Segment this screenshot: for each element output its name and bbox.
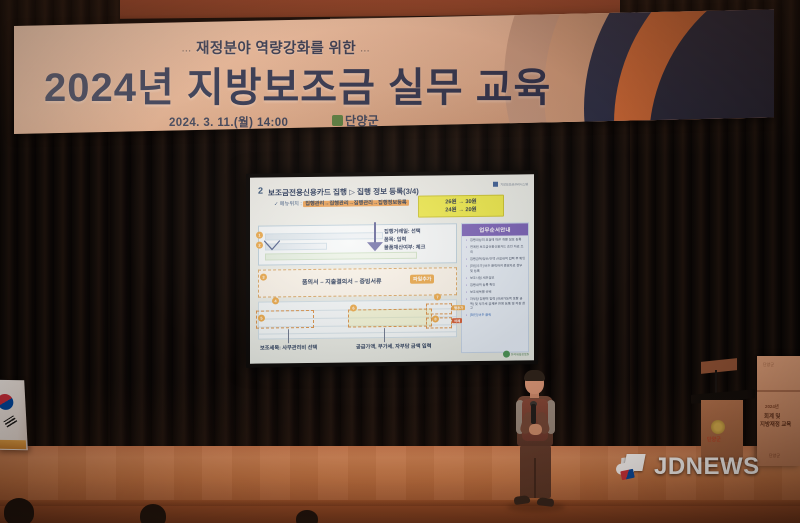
- callout-line-3: 물품재산여부: 체크: [384, 244, 425, 253]
- slide-step-number: 2: [258, 186, 263, 196]
- slide-marker: 6: [350, 304, 357, 311]
- slide-leader-line: [288, 329, 289, 343]
- slide-sidebar-item: 보조사업 세부정보: [466, 275, 526, 281]
- standee-top-text: 단양군: [763, 362, 774, 368]
- slide-footer-label-right: 공급가액, 부가세, 자부담 금액 입력: [356, 343, 431, 351]
- podium-stand: [715, 370, 717, 394]
- hand-holding-newspaper-icon: [616, 454, 650, 480]
- slide-down-arrow-icon: [367, 242, 383, 251]
- slide-vee-connector: [264, 240, 280, 250]
- slide-sidebar-header: 업무순서안내: [462, 223, 528, 236]
- flag-trigram-icon: [3, 415, 17, 427]
- speaker-hair: [524, 370, 545, 381]
- event-banner: ... 재정분야 역량강화를 위한 ... 2024년 지방보조금 실무 교육 …: [14, 9, 774, 134]
- slide-footer-logo-text: 한국재정정보원: [511, 352, 529, 356]
- slide-form-panel: [258, 223, 457, 265]
- slide-marker: 2: [256, 242, 263, 249]
- slide-down-arrow-shaft: [374, 222, 376, 244]
- watermark: JDNEWS: [616, 452, 760, 482]
- slide-table-highlight-mid: [348, 309, 432, 328]
- banner-date: 2024. 3. 11.(월) 14:00: [169, 114, 288, 130]
- taeguk-icon: [0, 394, 14, 410]
- flag-fringe: [0, 440, 26, 450]
- podium-emblem-label: 단양군: [707, 436, 721, 443]
- slide-row-delete-button: 삭제: [452, 318, 462, 323]
- slide-sidebar-item: 연계된 보조금전용신용카드 승인 자료 조회: [466, 244, 526, 255]
- slide-corp-logo: 지방보조금관리시스템: [493, 181, 528, 186]
- slide-sidebar-item: [파일추가] 버튼 클릭하여 증빙자료 첨부 및 등록: [466, 263, 526, 274]
- slide-sidebar-item: 자부담 집행액 입력 (현금가능액 포함 금액) 및 부가세 공제분 반영 등록…: [466, 296, 526, 312]
- callout-line-1: 집행거래일: 선택: [384, 228, 425, 237]
- slide-table-highlight-br: [426, 317, 452, 328]
- slide-title: 보조금전용신용카드 집행 ▷ 집행 정보 등록(3/4): [268, 186, 419, 199]
- stage-front-panel: [0, 506, 800, 523]
- slide-footer-logo-icon: [503, 351, 510, 358]
- standee-line-1: 회계 및: [764, 412, 780, 420]
- slide-row-add-button: 행추가: [452, 305, 465, 310]
- slide-file-add-button: 파일추가: [410, 274, 434, 283]
- slide-menu-path-row: ✓ 메뉴위치 : 집행관리→집행관리→집행관리→집행정보등록: [274, 199, 409, 208]
- corp-logo-icon: [493, 182, 498, 187]
- slide-sidebar-item: [확인] 버튼 클릭: [466, 313, 526, 319]
- slide-callout: 집행거래일: 선택 품목: 입력 물품재산여부: 체크: [384, 228, 425, 253]
- podium-emblem-icon: [711, 420, 725, 434]
- banner-deco-right: ...: [361, 45, 371, 54]
- event-standee: 단양군 2024년 회계 및 지방재정 교육 단양군: [757, 356, 800, 466]
- slide-sidebar-item: 집행금액/정산/잔액 산정내역 입력 후 확인: [466, 256, 526, 262]
- speaker-leg-split: [534, 458, 536, 498]
- watermark-text: JDNEWS: [654, 453, 760, 481]
- standee-year: 2024년: [765, 404, 779, 410]
- slide-leader-line: [384, 328, 385, 342]
- banner-org-name: 단양군: [345, 114, 379, 128]
- audience-head: [4, 498, 34, 523]
- slide-footer-logo: 한국재정정보원: [503, 350, 529, 357]
- speaker-figure: [505, 372, 567, 514]
- slide-sidebar-item: 보조세목별 선택: [466, 289, 526, 295]
- highlight-line-2: 24원 → 20원: [422, 206, 500, 215]
- slide-marker: 7: [434, 293, 441, 300]
- microphone-icon: [531, 404, 536, 424]
- photo-scene: ... 재정분야 역량강화를 위한 ... 2024년 지방보조금 실무 교육 …: [0, 0, 800, 523]
- slide-document-text: 품의서 – 지출결의서 – 증빙서류: [302, 276, 382, 286]
- slide-sidebar-item: 집행내역 등록 확인: [466, 282, 526, 288]
- slide-menu-prefix: ✓ 메뉴위치 :: [274, 201, 302, 207]
- audience-head: [296, 510, 318, 523]
- slide-sidebar-list: 집행대상의 요청에 따른 개별 정보 등록 연계된 보조금전용신용카드 승인 자…: [466, 237, 526, 318]
- slide-form-field: [265, 232, 383, 240]
- slide-marker: 1: [256, 232, 263, 239]
- standee-footer: 단양군: [769, 453, 780, 459]
- slide-marker: 5: [258, 315, 265, 322]
- projected-slide: 2 보조금전용신용카드 집행 ▷ 집행 정보 등록(3/4) 지방보조금관리시스…: [250, 174, 534, 363]
- standee-divider: [757, 390, 800, 392]
- slide-footer-label-left: 보조세목: 사무관리비 선택: [260, 344, 317, 352]
- speaker-hands: [529, 424, 542, 435]
- slide-marker: 3: [260, 274, 267, 281]
- slide-highlight-box: 26원 → 30원 24원 → 20원: [418, 195, 504, 218]
- banner-title: 2024년 지방보조금 실무 교육: [44, 55, 551, 113]
- banner-deco-left: ...: [182, 45, 192, 54]
- slide-form-field: [265, 252, 417, 261]
- county-emblem-icon: [332, 115, 343, 126]
- slide-sidebar: 업무순서안내 집행대상의 요청에 따른 개별 정보 등록 연계된 보조금전용신용…: [461, 222, 529, 353]
- slide-menu-path: 집행관리→집행관리→집행관리→집행정보등록: [303, 200, 408, 207]
- slide-table-highlight-tr: [426, 303, 452, 314]
- slide-sidebar-item: 집행대상의 요청에 따른 개별 정보 등록: [466, 237, 526, 243]
- standee-line-2: 지방재정 교육: [760, 420, 791, 428]
- slide-marker: 4: [272, 297, 279, 304]
- slide-corp-logo-text: 지방보조금관리시스템: [500, 182, 528, 186]
- audience-head: [140, 504, 166, 523]
- slide-marker: 8: [432, 315, 439, 322]
